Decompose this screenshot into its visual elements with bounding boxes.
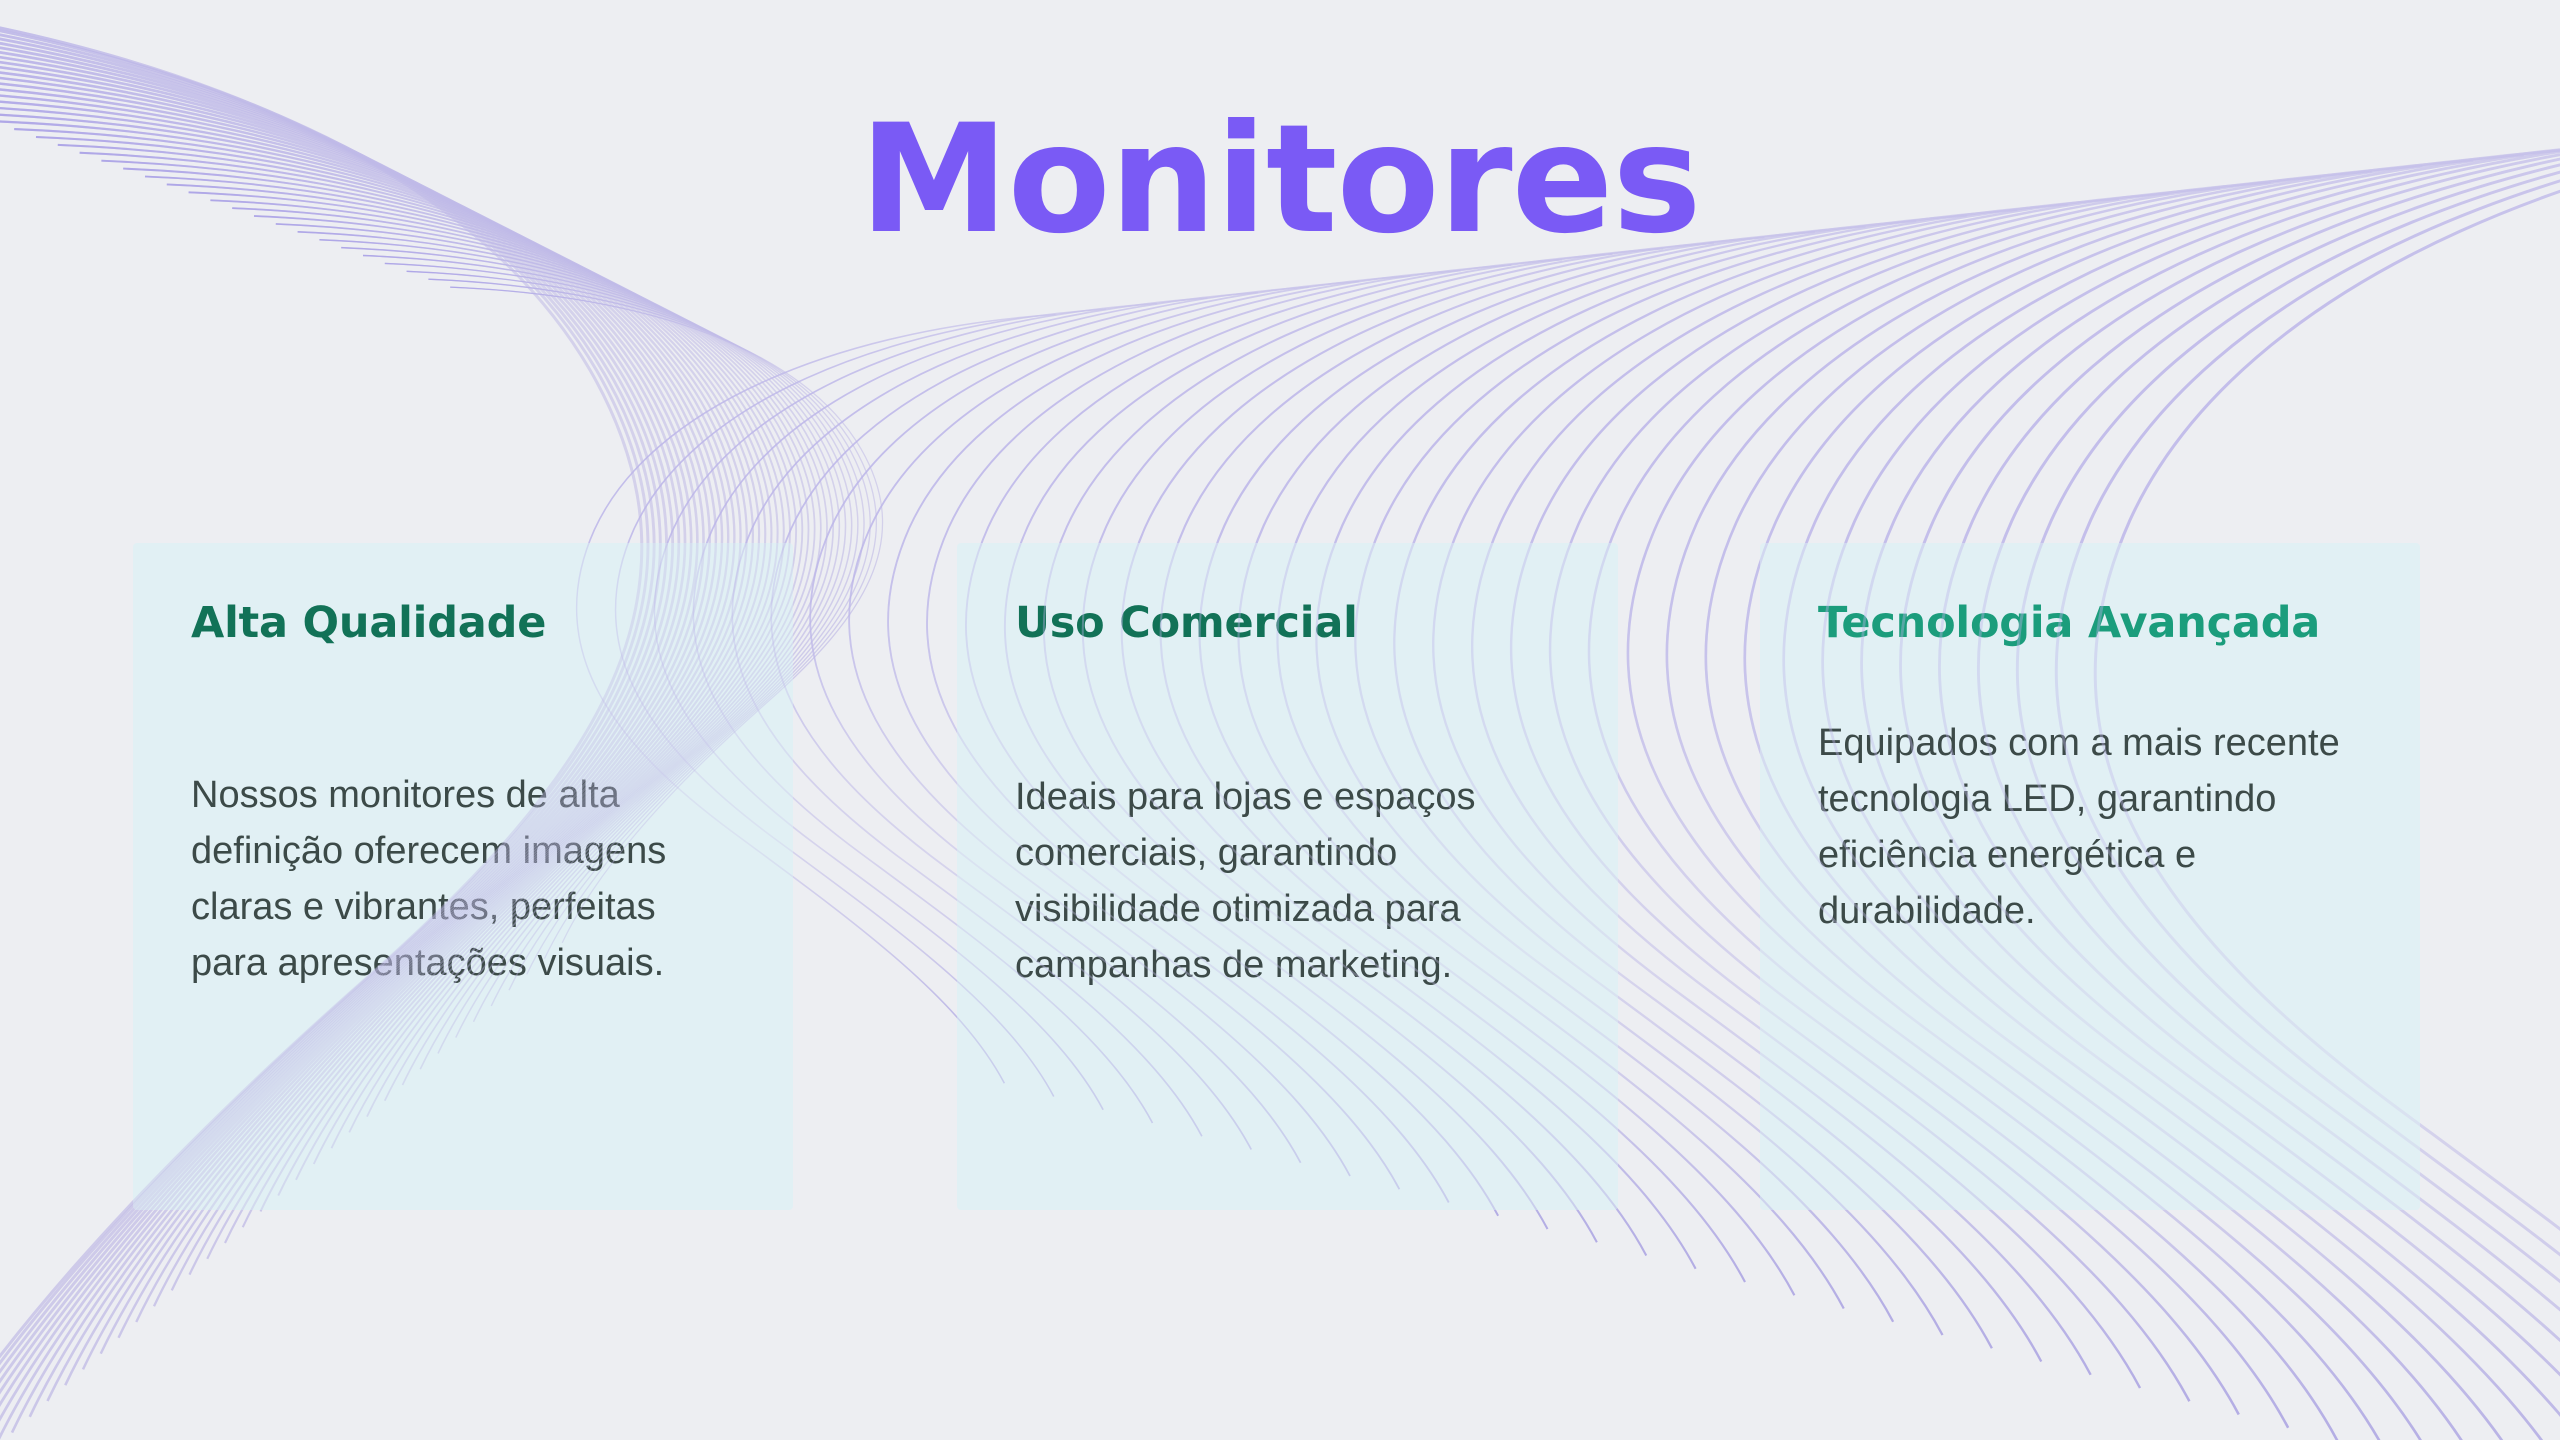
page-title: Monitores xyxy=(859,105,1700,255)
feature-card-body: Ideais para lojas e espaços comerciais, … xyxy=(1015,769,1560,994)
feature-card-list: Alta Qualidade Nossos monitores de alta … xyxy=(0,543,2560,1213)
feature-card-tecnologia-avancada: Tecnologia Avançada Equipados com a mais… xyxy=(1760,543,2420,1210)
page-title-container: Monitores xyxy=(0,0,2560,360)
feature-card-body: Nossos monitores de alta definição ofere… xyxy=(191,767,735,992)
feature-card-title: Uso Comercial xyxy=(1015,598,1560,649)
feature-card-title: Tecnologia Avançada xyxy=(1818,598,2362,649)
feature-card-uso-comercial: Uso Comercial Ideais para lojas e espaço… xyxy=(957,543,1618,1210)
feature-card-alta-qualidade: Alta Qualidade Nossos monitores de alta … xyxy=(133,543,793,1210)
feature-card-body: Equipados com a mais recente tecnologia … xyxy=(1818,715,2362,940)
feature-card-title: Alta Qualidade xyxy=(191,598,735,649)
slide-root: Monitores Alta Qualidade Nossos monitore… xyxy=(0,0,2560,1440)
